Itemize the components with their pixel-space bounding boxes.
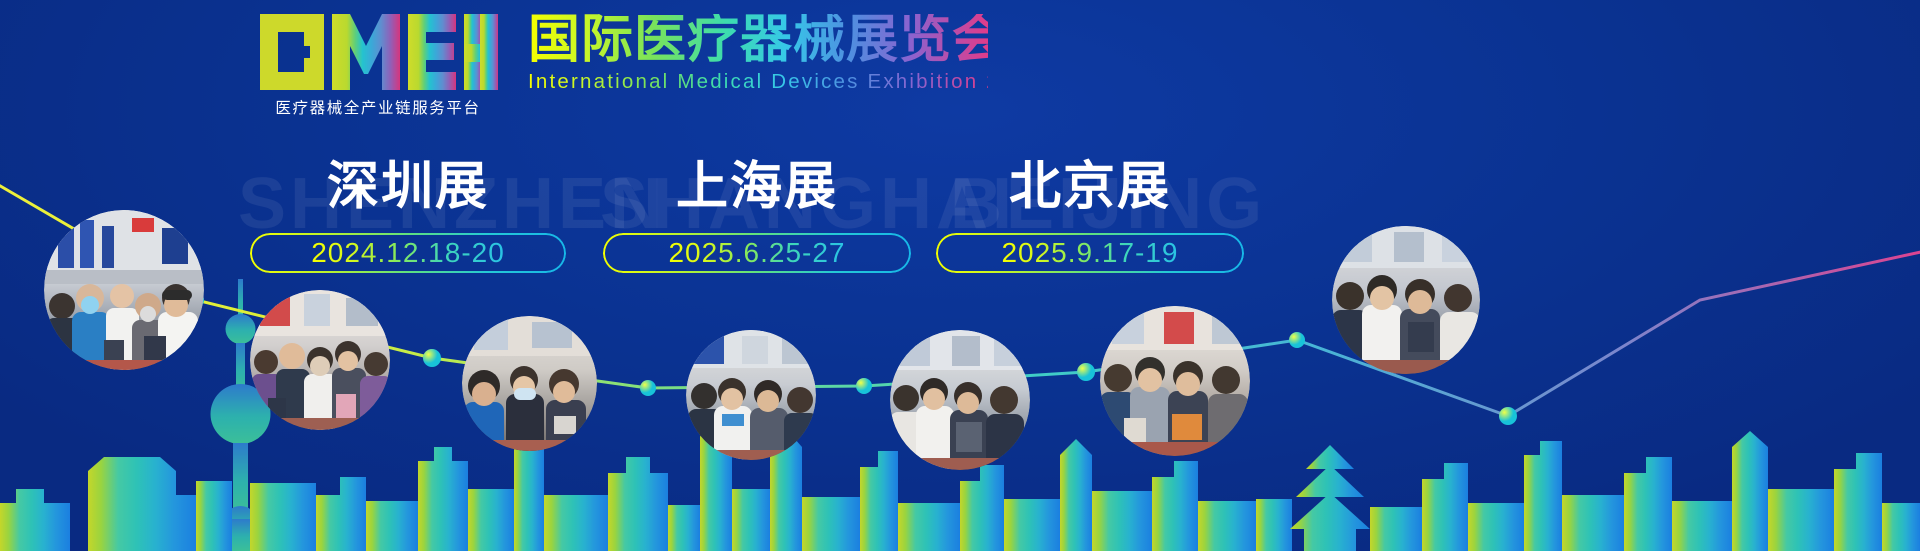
logo-tagline: 医疗器械全产业链服务平台	[258, 96, 498, 118]
date-badge-shanghai[interactable]: 2025.6.25-27	[603, 233, 911, 273]
medical-cross-icon	[310, 36, 324, 68]
exhibition-crowd-photo-4	[686, 330, 816, 460]
date-text-beijing: 2025.9.17-19	[1001, 239, 1178, 267]
exhibition-crowd-photo-6	[1100, 306, 1250, 456]
exhibition-crowd-photo-3	[462, 316, 597, 451]
exhibition-crowd-photo-2	[250, 290, 390, 430]
exhibition-title-english: International Medical Devices Exhibition…	[528, 72, 988, 93]
exhibition-crowd-photo-1	[44, 210, 204, 370]
city-name-beijing: 北京展	[936, 160, 1244, 215]
city-block-shenzhen: 深圳展 2024.12.18-20	[250, 160, 566, 273]
city-block-shanghai: 上海展 2025.6.25-27	[603, 160, 911, 273]
date-text-shanghai: 2025.6.25-27	[668, 239, 845, 267]
exhibition-title-chinese: 国际医疗器械展览会	[528, 14, 988, 66]
exhibition-crowd-photo-5	[890, 330, 1030, 470]
city-block-beijing: 北京展 2025.9.17-19	[936, 160, 1244, 273]
city-name-shanghai: 上海展	[603, 160, 911, 215]
letter-m	[332, 14, 400, 90]
city-name-shenzhen: 深圳展	[250, 160, 566, 215]
date-text-shenzhen: 2024.12.18-20	[311, 239, 505, 267]
exhibition-crowd-photo-7	[1332, 226, 1480, 374]
date-badge-shenzhen[interactable]: 2024.12.18-20	[250, 233, 566, 273]
letter-e	[408, 14, 456, 90]
letter-h	[464, 14, 498, 90]
cmeh-logo: 医疗器械全产业链服务平台	[258, 12, 498, 112]
exhibition-title-block: 国际医疗器械展览会 International Medical Devices …	[528, 14, 988, 112]
exhibition-banner: 医疗器械全产业链服务平台 国际医疗器械展览会 International Med…	[0, 0, 1920, 551]
date-badge-beijing[interactable]: 2025.9.17-19	[936, 233, 1244, 273]
cmeh-wordmark-icon	[258, 12, 498, 92]
